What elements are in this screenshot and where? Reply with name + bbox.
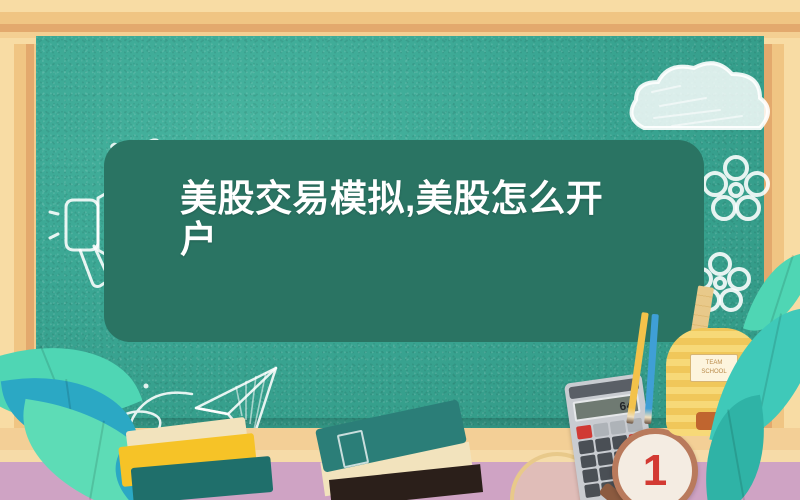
flower-doodle-a [700,152,772,224]
magnifier-number: 1 [618,434,692,500]
backpack-label-line2: SCHOOL [701,369,726,375]
page-title: 美股交易模拟,美股怎么开户 [180,178,620,261]
magnifying-glass-icon: 1 [612,428,698,500]
backpack-label-line1: TEAM [706,360,723,366]
banner-image: 美股交易模拟,美股怎么开户 64 1 TEAM [0,0,800,500]
